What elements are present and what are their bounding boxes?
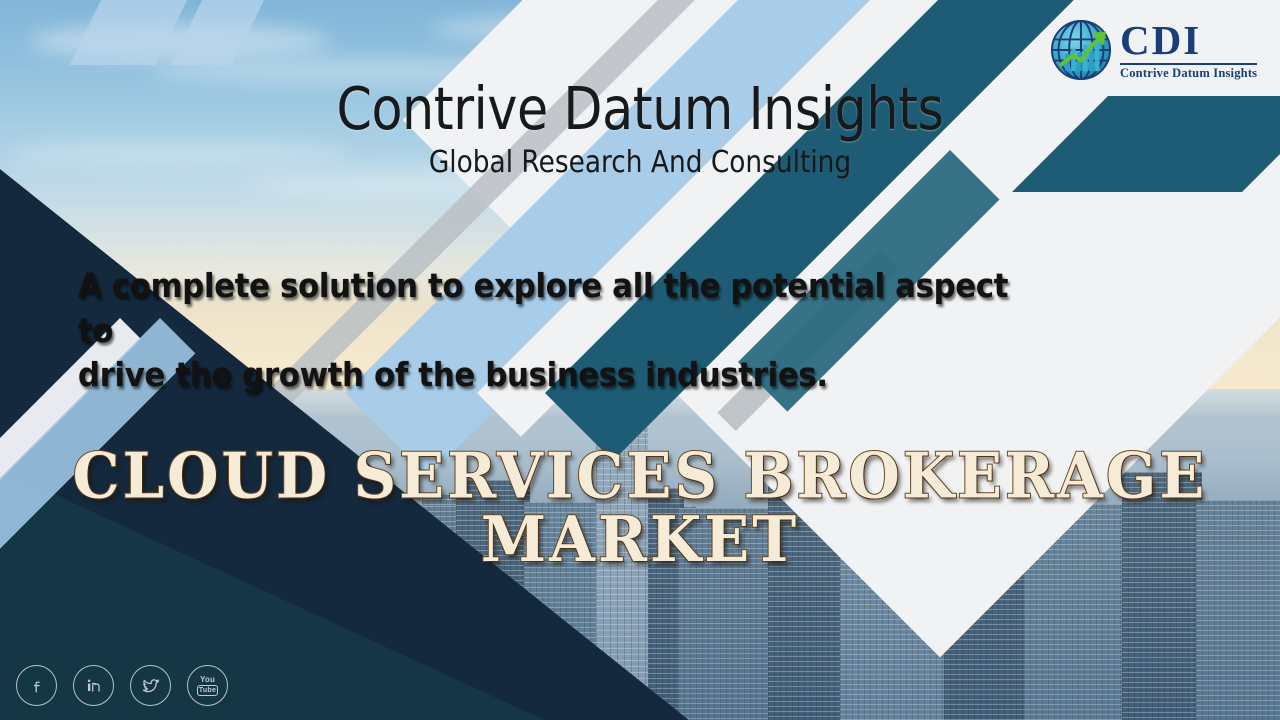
logo-divider — [1120, 63, 1257, 65]
company-name: Contrive Datum Insights — [90, 78, 1191, 140]
tagline-line-1: A complete solution to explore all the p… — [78, 264, 1017, 353]
report-title-line-2: MARKET — [0, 508, 1280, 572]
brand-header: Contrive Datum Insights Global Research … — [0, 78, 1280, 179]
promo-banner: CDI Contrive Datum Insights Contrive Dat… — [0, 0, 1280, 720]
report-title-line-1: CLOUD SERVICES BROKERAGE — [73, 439, 1208, 512]
youtube-tube-badge: Tube — [197, 685, 218, 696]
linkedin-icon[interactable] — [73, 665, 114, 706]
report-title: CLOUD SERVICES BROKERAGE MARKET — [0, 444, 1280, 572]
facebook-icon[interactable] — [16, 665, 57, 706]
cdi-logo[interactable]: CDI Contrive Datum Insights — [1048, 12, 1272, 88]
youtube-you-label: You — [200, 676, 215, 684]
twitter-icon[interactable] — [130, 665, 171, 706]
globe-growth-chart-icon — [1048, 17, 1114, 83]
company-subtitle: Global Research And Consulting — [77, 146, 1203, 179]
tagline: A complete solution to explore all the p… — [78, 264, 1017, 398]
tagline-line-2: drive the growth of the business industr… — [78, 353, 1017, 398]
youtube-icon[interactable]: You Tube — [187, 665, 228, 706]
logo-acronym: CDI — [1120, 20, 1257, 61]
social-links: You Tube — [16, 665, 228, 706]
